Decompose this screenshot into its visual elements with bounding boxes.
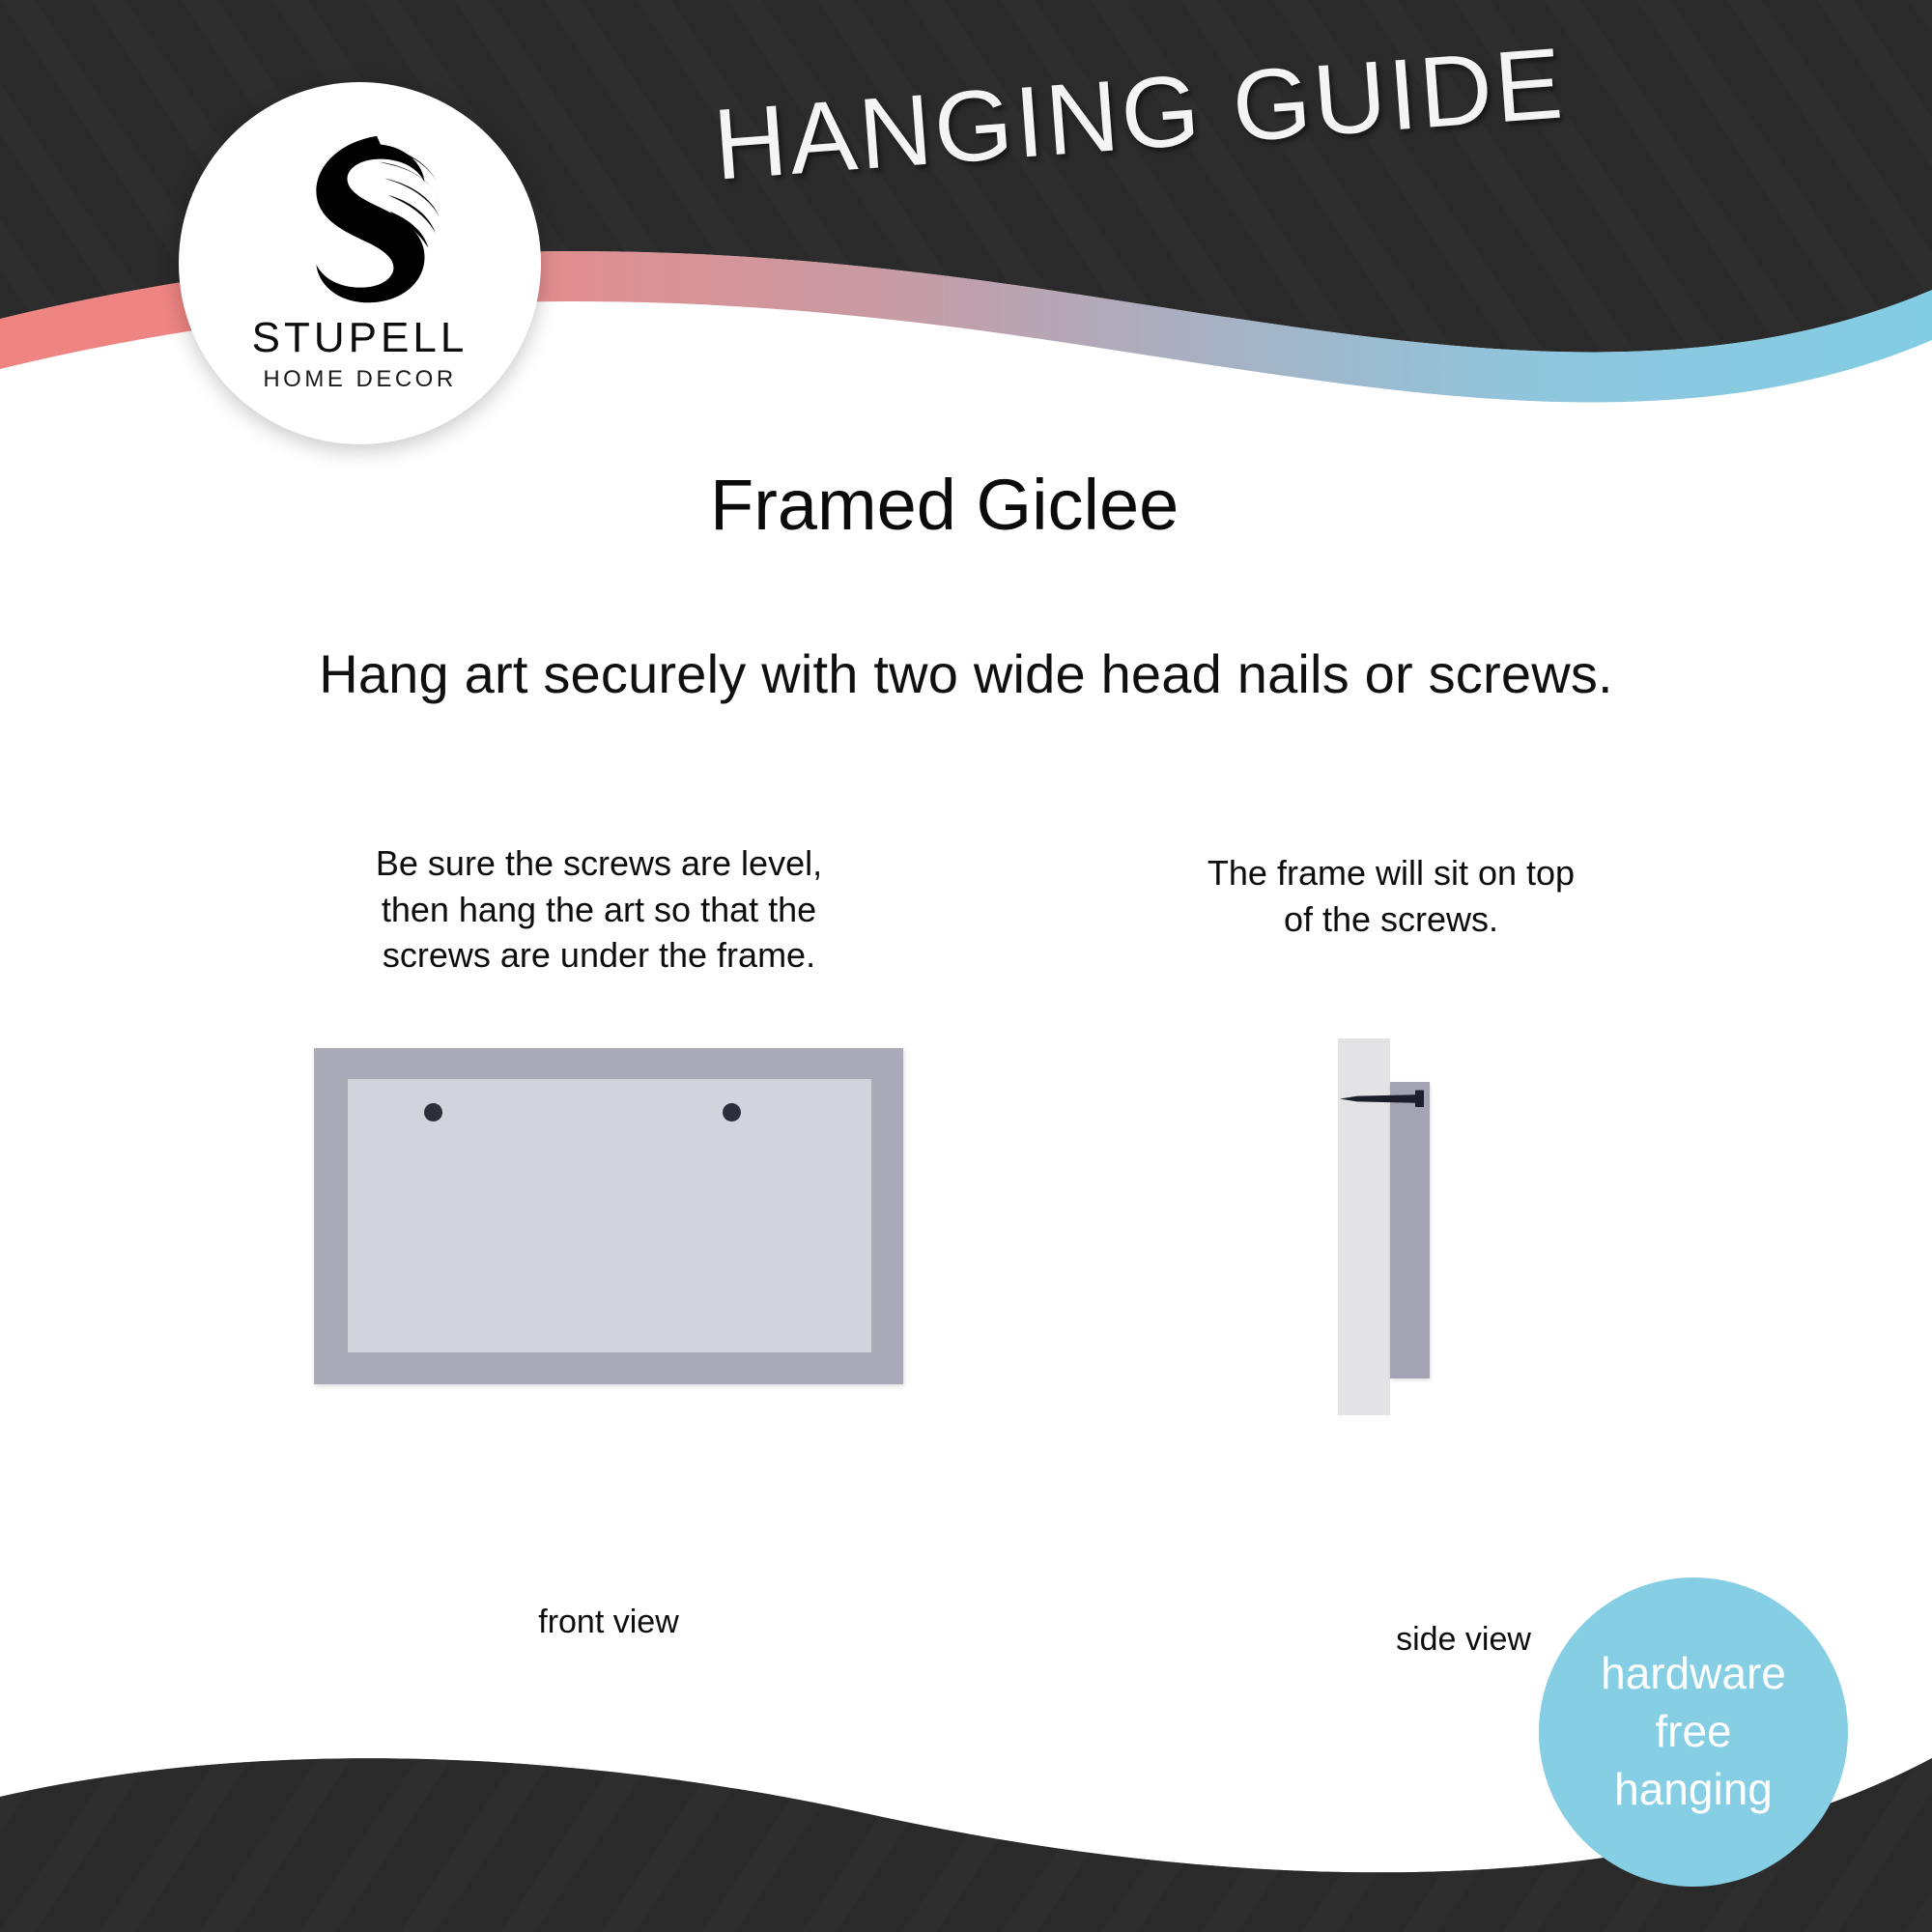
hardware-free-hanging-badge: hardware free hanging [1539, 1577, 1848, 1887]
front-view-illustration [314, 1048, 903, 1384]
brand-wordmark: STUPELL [252, 317, 469, 359]
diagram-area: Be sure the screws are level, then hang … [0, 831, 1932, 1700]
side-view-caption: The frame will sit on top of the screws. [1101, 850, 1681, 942]
front-caption-line-3: screws are under the frame. [241, 932, 956, 979]
badge-line-1: hardware [1601, 1645, 1786, 1703]
brand-logo-badge: STUPELL HOME DECOR [179, 82, 541, 444]
front-view-caption: Be sure the screws are level, then hang … [241, 840, 956, 979]
product-type-label: Framed Giclee [710, 464, 1179, 546]
side-caption-line-1: The frame will sit on top [1101, 850, 1681, 896]
screw-dot-right [723, 1103, 741, 1122]
front-caption-line-1: Be sure the screws are level, [241, 840, 956, 887]
side-caption-line-2: of the screws. [1101, 896, 1681, 943]
front-view-label: front view [314, 1604, 903, 1641]
side-view-illustration [1338, 1038, 1589, 1415]
stupell-swan-s-icon [269, 123, 452, 311]
hanging-guide-page: STUPELL HOME DECOR HANGING GUIDE Framed … [0, 0, 1932, 1932]
picture-frame-side-icon [1390, 1082, 1430, 1378]
brand-subwordmark: HOME DECOR [263, 368, 456, 391]
front-caption-line-2: then hang the art so that the [241, 887, 956, 933]
instruction-headline: Hang art securely with two wide head nai… [0, 642, 1932, 705]
badge-line-2: free [1655, 1703, 1731, 1761]
screw-dot-left [424, 1103, 442, 1122]
page-title: HANGING GUIDE [710, 26, 1569, 203]
nail-icon [1340, 1089, 1433, 1108]
frame-mat-surface [348, 1079, 871, 1352]
badge-line-3: hanging [1614, 1761, 1773, 1819]
